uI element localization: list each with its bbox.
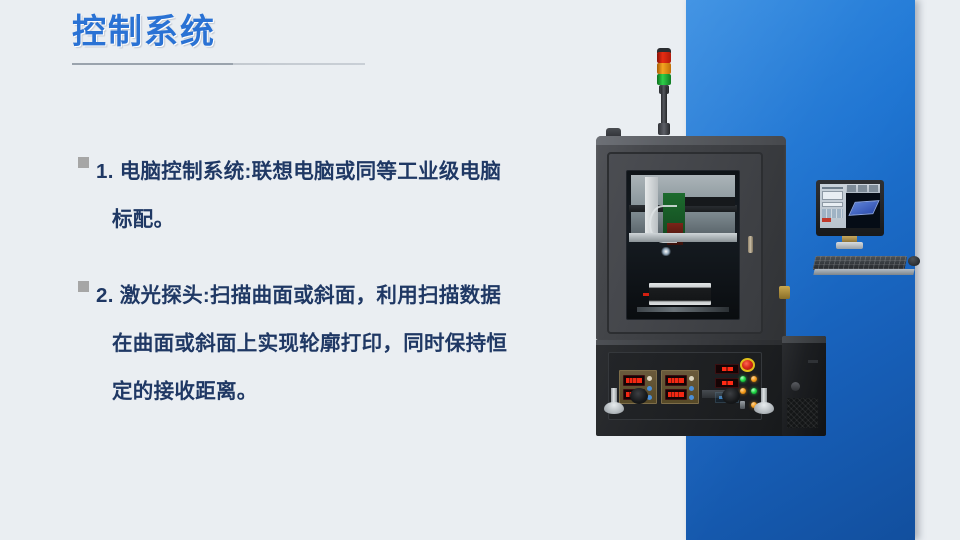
title-divider: [72, 63, 365, 65]
module-button[interactable]: [647, 386, 652, 391]
slide-root: 控制系统 1. 电脑控制系统:联想电脑或同等工业级电脑 标配。 2. 激光探头:…: [0, 0, 960, 540]
bullet-list: 1. 电脑控制系统:联想电脑或同等工业级电脑 标配。 2. 激光探头:扫描曲面或…: [78, 148, 598, 444]
square-bullet-icon: [78, 281, 89, 292]
square-bullet-icon: [78, 157, 89, 168]
signal-tower-base: [658, 123, 670, 135]
interior-arm: [685, 197, 735, 206]
side-latch: [779, 286, 790, 299]
laser-marking-machine-photo: [596, 48, 836, 476]
monitor-stand: [836, 242, 863, 249]
list-item-line: 2. 激光探头:扫描曲面或斜面，利用扫描数据: [96, 272, 507, 320]
pc-front-mesh: [787, 398, 818, 428]
list-item: 1. 电脑控制系统:联想电脑或同等工业级电脑 标配。: [78, 148, 598, 244]
page-title: 控制系统: [72, 8, 492, 56]
laser-spot-glow: [661, 247, 671, 256]
module-knob[interactable]: [647, 376, 652, 381]
signal-tower-red-lamp: [657, 52, 671, 63]
indicator-lamp-orange: [740, 388, 746, 394]
enclosure-top-edge: [596, 136, 786, 145]
list-item-text: 1. 电脑控制系统:联想电脑或同等工业级电脑 标配。: [96, 148, 501, 244]
temperature-controller-module: [661, 370, 699, 404]
caster-wheel: [722, 388, 740, 404]
emergency-stop-button[interactable]: [740, 358, 755, 372]
door-handle: [748, 236, 753, 253]
led-readout: [623, 375, 645, 386]
pc-drive-slot: [808, 360, 818, 363]
control-panel-right-section: [713, 356, 759, 416]
cabinet-lip: [596, 340, 790, 345]
list-item-line: 1. 电脑控制系统:联想电脑或同等工业级电脑: [96, 148, 501, 196]
workpiece-3d-preview: [848, 200, 879, 216]
list-item-line: 定的接收距离。: [96, 368, 507, 416]
leveling-foot: [604, 388, 624, 416]
led-readout: [665, 389, 687, 400]
module-knob[interactable]: [689, 376, 694, 381]
interior-rail-lower: [629, 233, 737, 242]
caster-wheel: [630, 388, 648, 404]
pc-power-button[interactable]: [791, 382, 800, 391]
pc-top-panel: [782, 336, 826, 343]
list-item: 2. 激光探头:扫描曲面或斜面，利用扫描数据 在曲面或斜面上实现轮廓打印，同时保…: [78, 272, 598, 416]
list-item-line: 在曲面或斜面上实现轮廓打印，同时保持恒: [96, 320, 507, 368]
signal-tower-amber-lamp: [657, 63, 671, 74]
title-block: 控制系统: [72, 8, 492, 72]
led-readout: [715, 364, 739, 374]
enclosure-viewing-window: [626, 170, 740, 320]
interior-base-strip: [637, 307, 729, 312]
desktop-pc-tower: [782, 336, 826, 436]
module-button[interactable]: [689, 386, 694, 391]
software-viewport: [846, 184, 880, 228]
work-bed: [649, 283, 711, 305]
interior-indicator-dot: [643, 293, 649, 296]
leveling-foot: [754, 388, 774, 416]
list-item-line: 标配。: [96, 196, 501, 244]
signal-tower-green-lamp: [657, 74, 671, 85]
indicator-lamp-green: [740, 376, 746, 382]
module-button[interactable]: [689, 395, 694, 400]
key-switch[interactable]: [740, 401, 745, 409]
machine-control-panel: [608, 352, 762, 420]
led-readout: [665, 375, 687, 386]
mouse: [908, 256, 920, 266]
enclosure-door: [607, 152, 763, 334]
led-readout: [715, 378, 739, 388]
indicator-lamp-orange: [751, 376, 757, 382]
list-item-text: 2. 激光探头:扫描曲面或斜面，利用扫描数据 在曲面或斜面上实现轮廓打印，同时保…: [96, 272, 507, 416]
machine-enclosure: [596, 136, 786, 340]
